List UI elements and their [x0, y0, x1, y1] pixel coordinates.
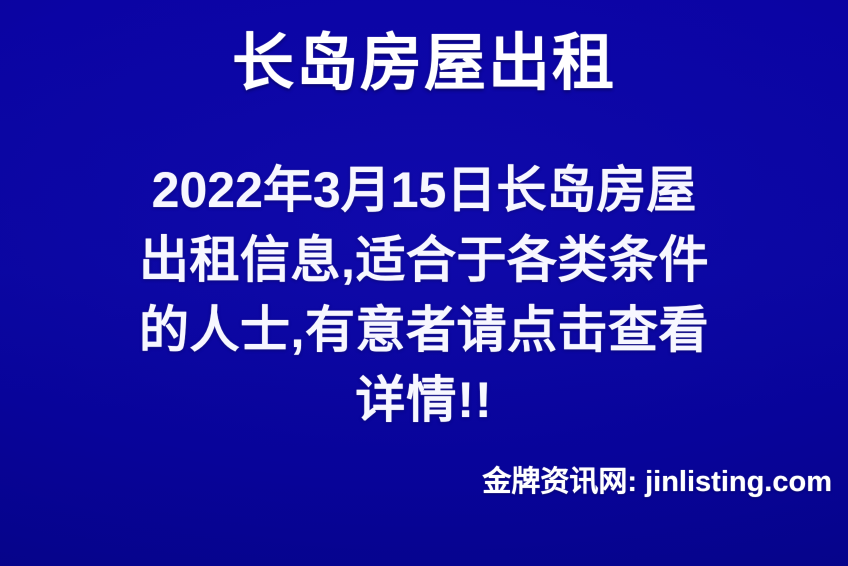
poster-title: 长岛房屋出租	[0, 33, 848, 95]
poster-footer: 金牌资讯网: jinlisting.com	[482, 458, 832, 500]
body-line-4: 详情!!	[0, 365, 848, 435]
footer-brand-label: 金牌资讯网:	[482, 466, 637, 498]
footer-website: jinlisting.com	[645, 466, 832, 498]
poster-content: 长岛房屋出租 2022年3月15日长岛房屋 出租信息,适合于各类条件 的人士,有…	[0, 0, 848, 566]
body-line-2: 出租信息,适合于各类条件	[0, 225, 848, 295]
rental-ad-poster: 长岛房屋出租 2022年3月15日长岛房屋 出租信息,适合于各类条件 的人士,有…	[0, 0, 848, 566]
body-line-1: 2022年3月15日长岛房屋	[0, 155, 848, 225]
body-line-3: 的人士,有意者请点击查看	[0, 295, 848, 365]
poster-body: 2022年3月15日长岛房屋 出租信息,适合于各类条件 的人士,有意者请点击查看…	[0, 155, 848, 435]
